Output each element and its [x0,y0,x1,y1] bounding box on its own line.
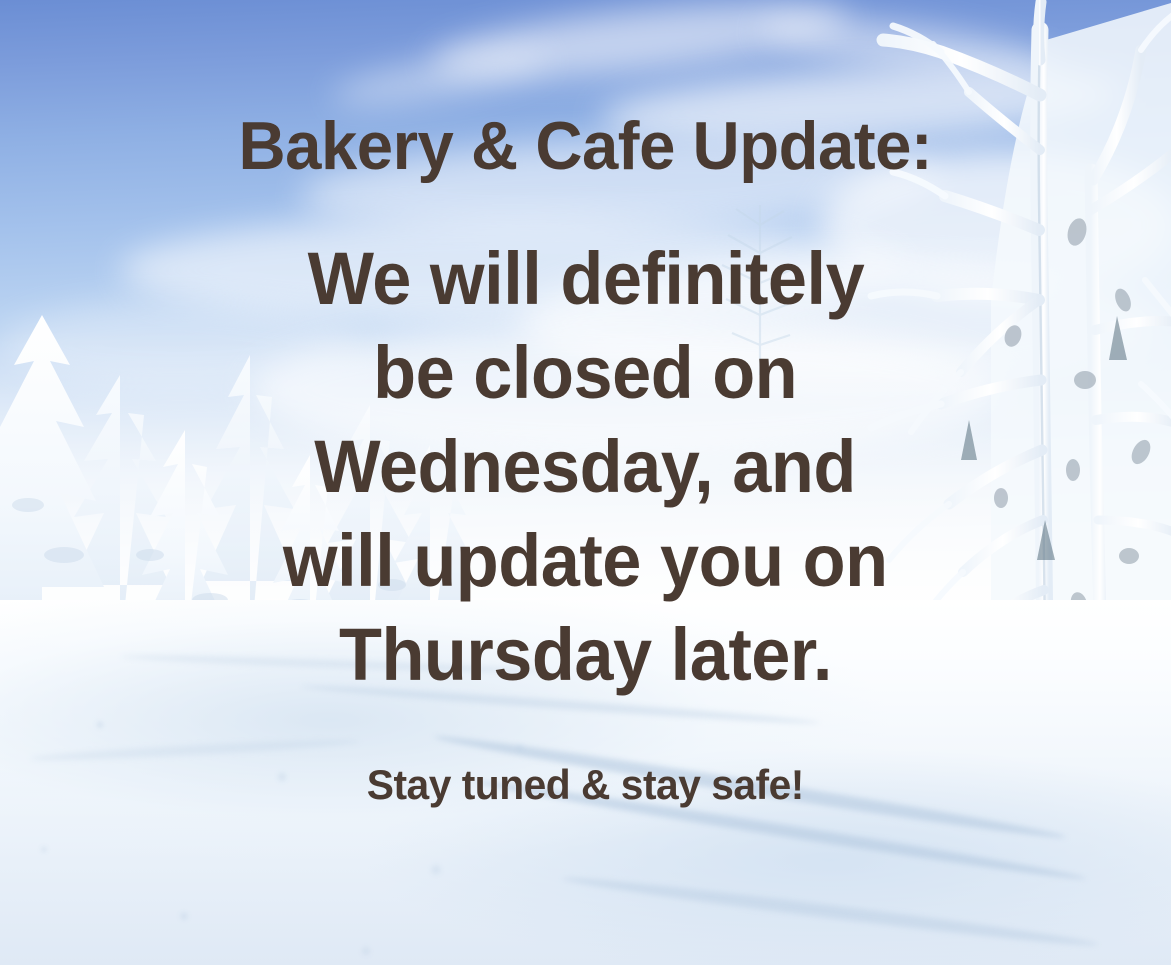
body-line-3: Wednesday, and [315,430,857,504]
poster-text-overlay: Bakery & Cafe Update: We will definitely… [0,0,1171,965]
poster-kicker: Stay tuned & stay safe! [367,764,804,806]
body-line-5: Thursday later. [339,618,832,692]
winter-announcement-poster: Bakery & Cafe Update: We will definitely… [0,0,1171,965]
body-line-2: be closed on [373,336,797,410]
poster-body: We will definitely be closed on Wednesda… [267,242,903,692]
body-line-1: We will definitely [307,242,864,316]
poster-headline: Bakery & Cafe Update: [239,112,933,180]
body-line-4: will update you on [283,524,888,598]
